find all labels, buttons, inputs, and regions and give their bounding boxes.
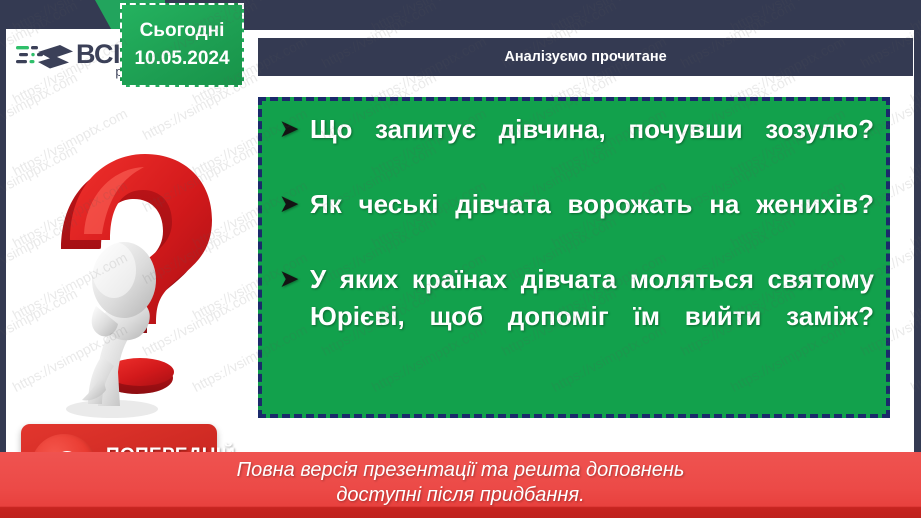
purchase-notice-banner: Повна версія презентації та решта доповн… — [0, 452, 921, 518]
slide-title-bar: Аналізуємо прочитане — [258, 38, 913, 76]
purchase-notice-text: Повна версія презентації та решта доповн… — [237, 458, 685, 508]
list-item: ➤ Як чеські дівчата ворожать на женихів? — [274, 186, 874, 260]
list-item: ➤ У яких країнах дівчата моляться святом… — [274, 261, 874, 372]
notice-line-2: доступні після придбання. — [237, 483, 685, 508]
page-title: Аналізуємо прочитане — [504, 49, 666, 65]
right-edge-strip — [914, 0, 921, 518]
graduation-cap-icon — [16, 40, 74, 78]
question-text: Що запитує дівчина, почувши зозулю? — [310, 111, 874, 185]
question-text: У яких країнах дівчата моляться святому … — [310, 261, 874, 372]
bullet-arrow-icon: ➤ — [280, 268, 302, 288]
questions-panel: ➤ Що запитує дівчина, почувши зозулю? ➤ … — [258, 97, 890, 418]
questions-list: ➤ Що запитує дівчина, почувши зозулю? ➤ … — [274, 111, 874, 371]
slide-canvas: ВСІМ pptx Сьогодні 10.05.2024 Аналізуємо… — [0, 0, 921, 518]
notice-line-1: Повна версія презентації та решта доповн… — [237, 458, 685, 483]
question-mark-illustration — [40, 128, 245, 428]
today-label: Сьогодні — [140, 17, 225, 45]
bullet-arrow-icon: ➤ — [280, 193, 302, 213]
bullet-arrow-icon: ➤ — [280, 118, 302, 138]
today-date-badge: Сьогодні 10.05.2024 — [120, 3, 244, 87]
today-value: 10.05.2024 — [134, 45, 229, 73]
question-text: Як чеські дівчата ворожать на женихів? — [310, 186, 874, 260]
list-item: ➤ Що запитує дівчина, почувши зозулю? — [274, 111, 874, 185]
